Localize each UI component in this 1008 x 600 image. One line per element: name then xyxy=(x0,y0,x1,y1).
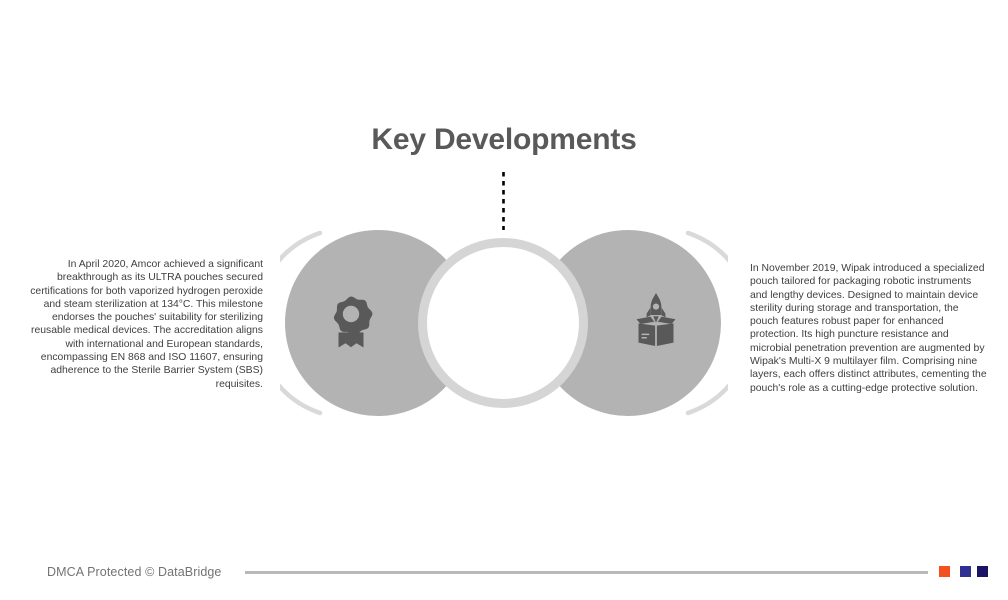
page-title: Key Developments xyxy=(0,120,1008,160)
circle-center-ring xyxy=(423,243,584,404)
footer-accent-squares xyxy=(939,566,993,578)
footer-copyright: DMCA Protected © DataBridge xyxy=(47,565,221,579)
award-ribbon-icon xyxy=(329,296,373,348)
accent-square-orange xyxy=(939,566,950,577)
slide-canvas: Key Developments xyxy=(0,0,1008,600)
right-description-text: In November 2019, Wipak introduced a spe… xyxy=(750,262,989,395)
footer-divider-line xyxy=(245,571,928,574)
accent-square-blue xyxy=(960,566,971,577)
rocket-launch-box-icon xyxy=(631,293,681,347)
left-description-text: In April 2020, Amcor achieved a signific… xyxy=(22,258,263,391)
accent-square-navy xyxy=(977,566,988,577)
